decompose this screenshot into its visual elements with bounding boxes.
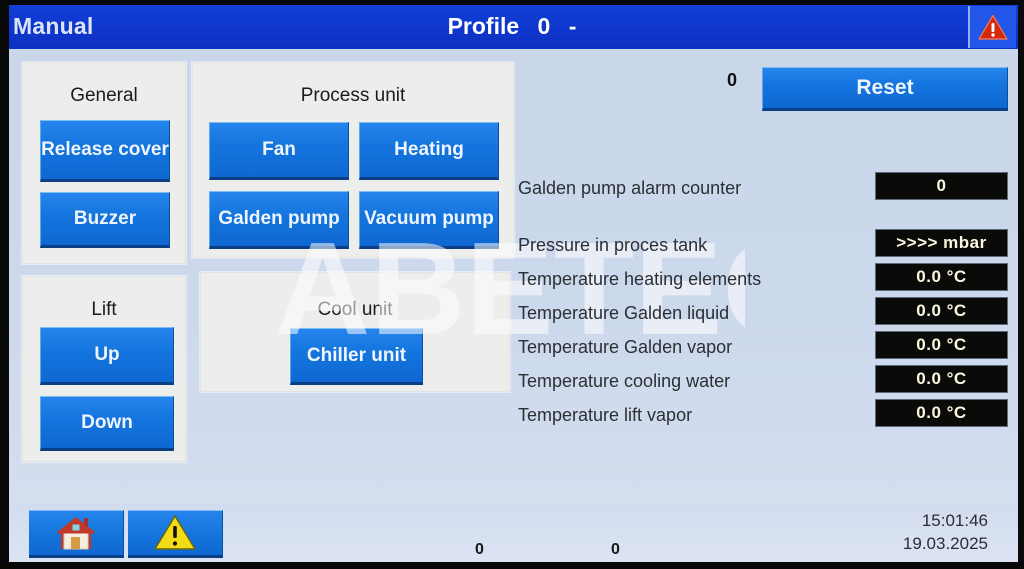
bezel-right bbox=[1018, 0, 1024, 569]
readout-value-temperature-cooling-water: 0.0 °C bbox=[875, 365, 1008, 393]
readout-value-temperature-lift-vapor: 0.0 °C bbox=[875, 399, 1008, 427]
profile-indicator: Profile 0 - bbox=[0, 13, 1024, 40]
readout-label-temperature-galden-vapor: Temperature Galden vapor bbox=[518, 337, 732, 358]
warning-triangle-icon bbox=[153, 514, 197, 552]
hmi-screen: Manual Profile 0 - General Lift Process … bbox=[0, 0, 1024, 569]
warning-triangle-icon bbox=[978, 14, 1008, 41]
bezel-bottom bbox=[0, 562, 1024, 569]
clock-date: 19.03.2025 bbox=[903, 533, 988, 556]
readout-value-temperature-galden-vapor: 0.0 °C bbox=[875, 331, 1008, 359]
clock-time: 15:01:46 bbox=[903, 510, 988, 533]
readout-value-temperature-heating-elements: 0.0 °C bbox=[875, 263, 1008, 291]
reset-counter-value: 0 bbox=[727, 70, 737, 91]
readout-label-temperature-cooling-water: Temperature cooling water bbox=[518, 371, 730, 392]
bezel-left bbox=[0, 0, 9, 569]
bottom-status-bar: 0 0 15:01:46 19.03.2025 bbox=[9, 504, 1018, 562]
status-counter-2: 0 bbox=[611, 541, 620, 559]
header-alarm-button[interactable] bbox=[968, 6, 1016, 48]
button-home[interactable] bbox=[29, 510, 124, 558]
button-reset[interactable]: Reset bbox=[762, 67, 1008, 111]
status-counter-1: 0 bbox=[475, 541, 484, 559]
readout-label-pressure-proces-tank: Pressure in proces tank bbox=[518, 235, 707, 256]
clock: 15:01:46 19.03.2025 bbox=[903, 510, 988, 556]
readout-value-temperature-galden-liquid: 0.0 °C bbox=[875, 297, 1008, 325]
readout-label-galden-pump-alarm-counter: Galden pump alarm counter bbox=[518, 178, 741, 199]
readout-label-temperature-heating-elements: Temperature heating elements bbox=[518, 269, 761, 290]
readout-value-galden-pump-alarm-counter: 0 bbox=[875, 172, 1008, 200]
profile-name: - bbox=[569, 13, 577, 39]
bezel-top bbox=[0, 0, 1024, 5]
readout-label-temperature-lift-vapor: Temperature lift vapor bbox=[518, 405, 692, 426]
home-icon bbox=[53, 513, 99, 553]
header-bar: Manual Profile 0 - bbox=[0, 4, 1024, 49]
readout-label-temperature-galden-liquid: Temperature Galden liquid bbox=[518, 303, 729, 324]
button-alarm-page[interactable] bbox=[128, 510, 223, 558]
profile-number: 0 bbox=[538, 13, 551, 39]
profile-label: Profile bbox=[448, 13, 520, 39]
readout-value-pressure-proces-tank: >>>> mbar bbox=[875, 229, 1008, 257]
